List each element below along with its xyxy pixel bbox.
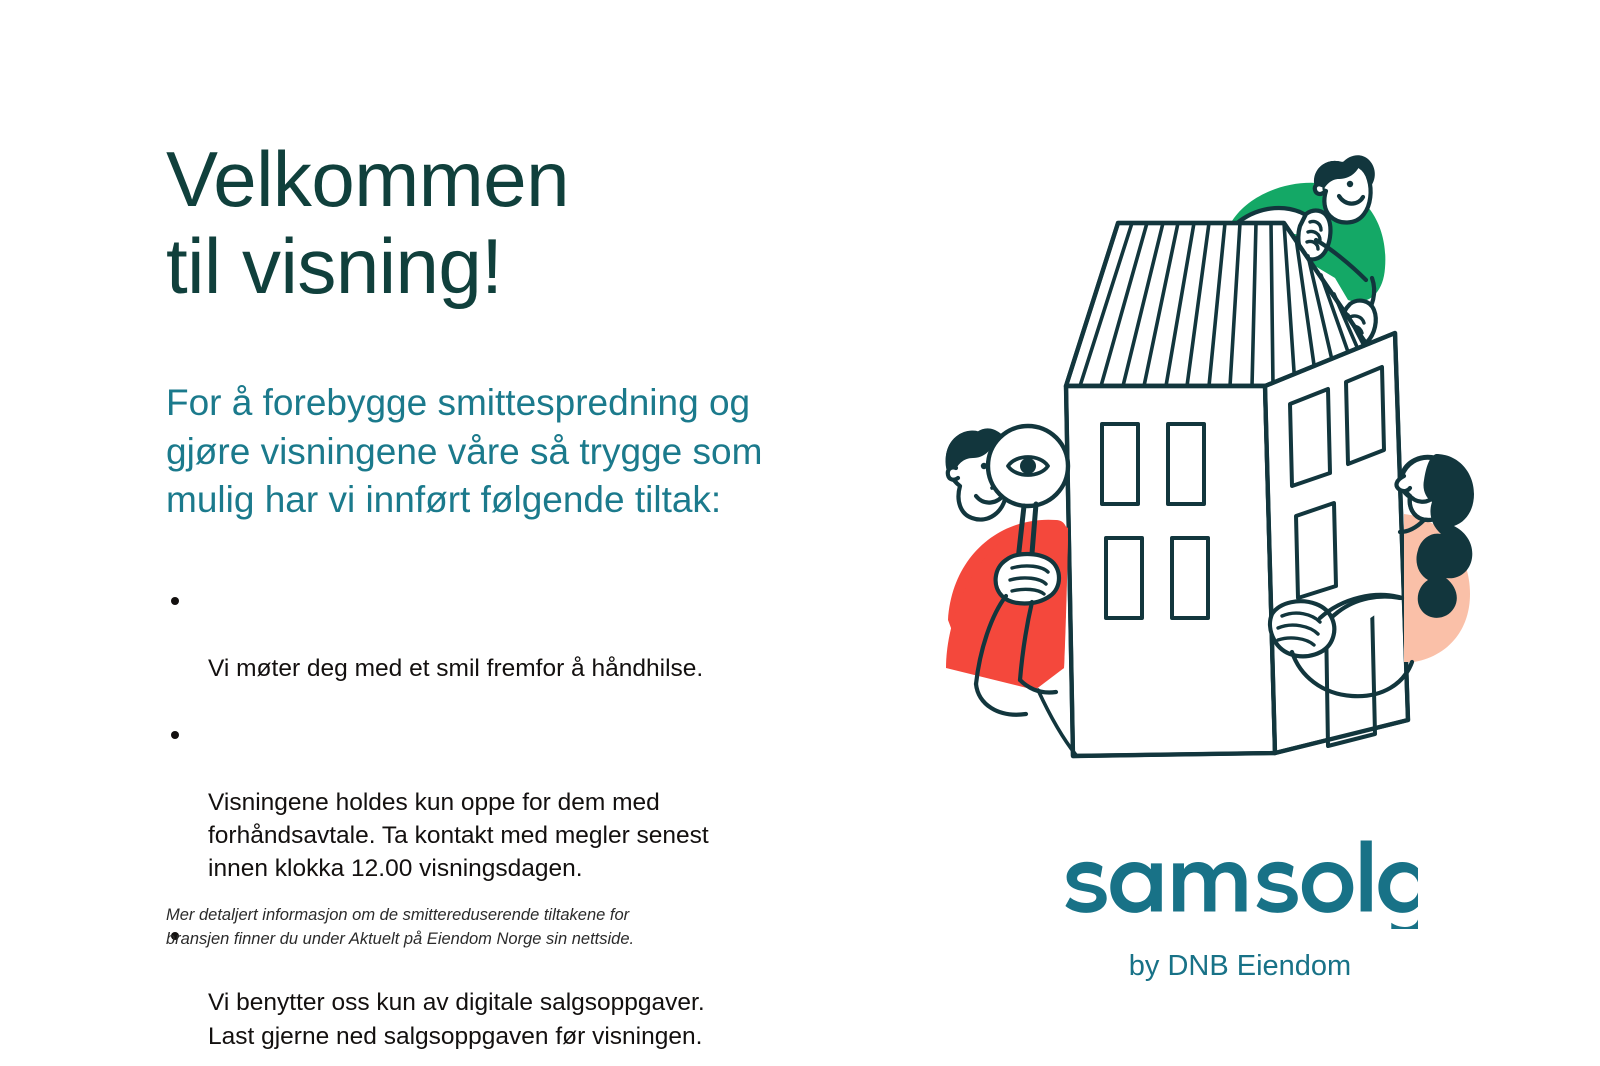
bullet-dot-icon — [171, 597, 179, 605]
subheadline: For å forebygge smittespredning og gjøre… — [166, 311, 821, 525]
page-title: Velkommen til visning! — [166, 136, 846, 311]
three-people-around-house-illustration — [880, 128, 1500, 773]
list-item-text: Vi møter deg med et smil fremfor å håndh… — [208, 655, 703, 682]
list-item-text: Visningene holdes kun oppe for dem med f… — [208, 789, 709, 883]
poster-root: Velkommen til visning! For å forebygge s… — [0, 0, 1600, 1066]
samsolgt-logo — [1062, 838, 1418, 930]
list-item: Visningene holdes kun oppe for dem med f… — [166, 719, 726, 886]
logo-block: by DNB Eiendom — [1030, 838, 1450, 981]
footnote: Mer detaljert informasjon om de smittere… — [166, 903, 686, 952]
bullet-dot-icon — [171, 731, 179, 739]
logo-tagline: by DNB Eiendom — [1030, 930, 1450, 981]
list-item: Vi møter deg med et smil fremfor å håndh… — [166, 585, 726, 685]
measures-list: Vi møter deg med et smil fremfor å håndh… — [166, 525, 726, 1053]
list-item-text: Vi benytter oss kun av digitale salgsopp… — [208, 989, 705, 1049]
man-with-magnifying-glass-icon — [946, 426, 1076, 755]
